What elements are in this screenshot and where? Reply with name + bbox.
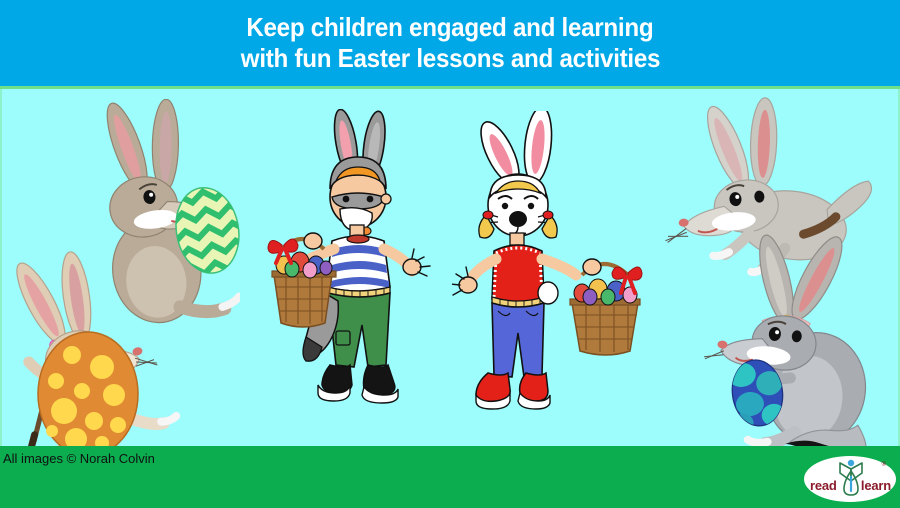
open-book-icon (837, 459, 865, 497)
readilearn-logo[interactable]: read learn ® (804, 456, 896, 502)
logo-word-read: read (810, 478, 837, 493)
logo-word-learn: learn (861, 478, 891, 493)
page-title-line-2: with fun Easter lessons and activities (240, 43, 659, 74)
poster-header: Keep children engaged and learning with … (0, 0, 900, 86)
bilby-pink-bow-with-spotted-egg (0, 229, 246, 446)
girl-in-bunny-ears (452, 111, 652, 431)
registered-trademark-mark: ® (882, 462, 886, 468)
copyright-notice: All images © Norah Colvin (3, 451, 155, 466)
bilby-with-blue-egg (698, 229, 900, 446)
page-title-line-1: Keep children engaged and learning (246, 12, 653, 43)
illustration-area (0, 89, 900, 446)
boy-in-bunny-mask (262, 109, 452, 429)
poster-footer: All images © Norah Colvin (0, 446, 900, 508)
easter-poster: Keep children engaged and learning with … (0, 0, 900, 508)
